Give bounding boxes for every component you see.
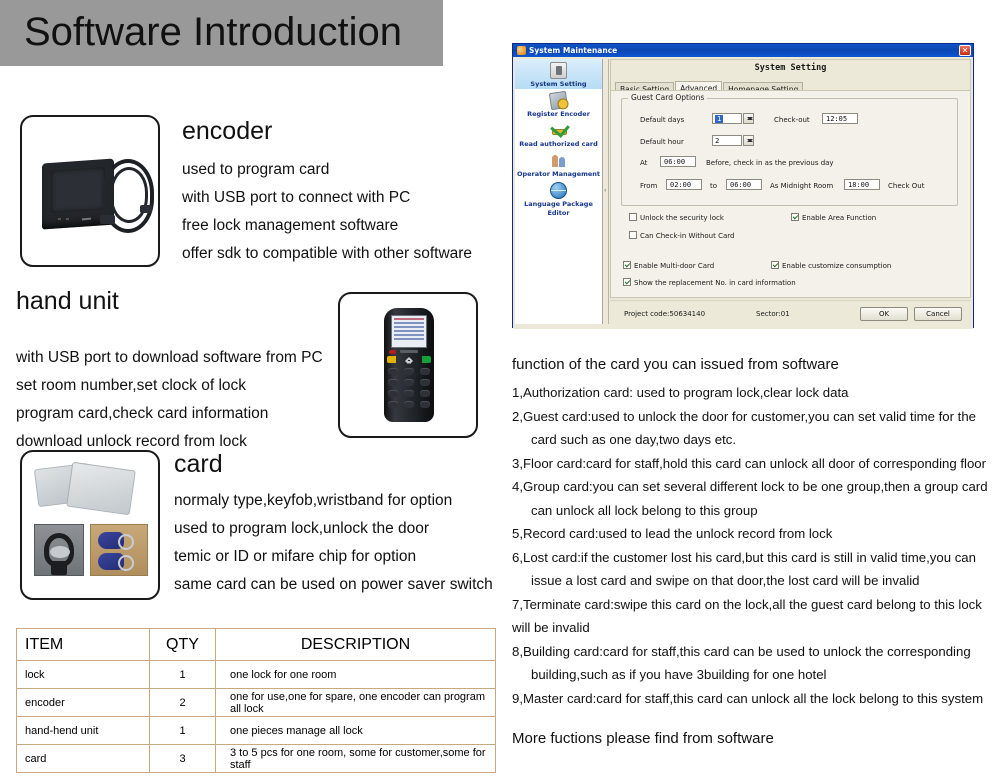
dialog-main-pane: System Setting Basic SettingAdvancedHome… (610, 59, 971, 327)
sidebar-item-register-encoder[interactable]: Register Encoder (515, 89, 602, 119)
cell-qty: 2 (150, 689, 216, 717)
cell-qty: 1 (150, 717, 216, 745)
hand-unit-heading: hand unit (16, 287, 119, 316)
hand-unit-feature-line: with USB port to download software from … (16, 344, 323, 372)
table-row: encoder 2 one for use,one for spare, one… (17, 689, 496, 717)
card-feature-line: normaly type,keyfob,wristband for option (174, 487, 493, 515)
card-photo (20, 450, 160, 600)
chevron-left-icon: ‹ (604, 187, 606, 194)
checkbox-label: Enable Area Function (802, 214, 876, 222)
cancel-button[interactable]: Cancel (914, 307, 962, 321)
sidebar-item-read-authorized-card[interactable]: Read authorized card (515, 119, 602, 149)
encoder-feature-line: used to program card (182, 156, 472, 184)
default-hour-input[interactable]: 2 (712, 135, 742, 146)
close-icon[interactable]: ✕ (959, 45, 971, 56)
pane-heading: System Setting (610, 59, 971, 76)
page-title-banner: Software Introduction (0, 0, 443, 66)
app-icon (517, 46, 526, 55)
default-days-label: Default days (640, 116, 684, 124)
cell-qty: 1 (150, 661, 216, 689)
page-title: Software Introduction (24, 8, 402, 56)
advanced-tab-panel: Guest Card Options Default days 1 Check-… (610, 90, 971, 298)
checkbox-box (629, 213, 637, 221)
sidebar-item-label: Read authorized card (515, 140, 602, 149)
checkout-time-input[interactable]: 12:05 (822, 113, 858, 124)
encoder-card-surface (51, 167, 105, 213)
checkbox-box (771, 261, 779, 269)
list-item: 7,Terminate card:swipe this card on the … (512, 593, 998, 617)
sidebar-item-label: Operator Management (515, 170, 602, 179)
checkbox-label: Unlock the security lock (640, 214, 724, 222)
right-content-column: System Maintenance ✕ System Setting Regi… (505, 0, 1000, 780)
check-out-label: Check Out (888, 182, 924, 190)
checkbox-show-replacement-no[interactable]: Show the replacement No. in card informa… (623, 278, 796, 287)
column-header-description: DESCRIPTION (216, 629, 496, 661)
checkbox-enable-multi-door-card[interactable]: Enable Multi-door Card (623, 261, 714, 270)
spin-down-icon (747, 117, 753, 123)
globe-icon (550, 182, 567, 199)
handheld-screen (391, 315, 427, 348)
usb-cable-loop-inner (110, 167, 148, 223)
list-item: 3,Floor card:card for staff,hold this ca… (512, 452, 998, 476)
handheld-brand-label (400, 350, 418, 353)
cell-item: encoder (17, 689, 150, 717)
card-feature-list: normaly type,keyfob,wristband for option… (174, 487, 493, 599)
table-row: lock 1 one lock for one room (17, 661, 496, 689)
default-hour-spin-buttons[interactable] (743, 135, 754, 146)
hand-unit-feature-line: program card,check card information (16, 400, 323, 428)
checkbox-label: Enable Multi-door Card (634, 262, 714, 270)
checkbox-unlock-security-lock[interactable]: Unlock the security lock (629, 213, 724, 222)
card-feature-line: used to program lock,unlock the door (174, 515, 493, 543)
keyfob-photo (90, 524, 148, 576)
list-item: card such as one day,two days etc. (512, 428, 998, 452)
handheld-dpad-icon (402, 355, 416, 367)
sidebar-item-system-setting[interactable]: System Setting (515, 59, 602, 89)
at-time-input[interactable]: 06:00 (660, 156, 696, 167)
checkout-label: Check-out (774, 116, 810, 124)
midnight-room-time-input[interactable]: 18:00 (844, 179, 880, 190)
sidebar-item-label: System Setting (515, 80, 602, 89)
ok-button[interactable]: OK (860, 307, 908, 321)
checkbox-box (791, 213, 799, 221)
cell-item: hand-hend unit (17, 717, 150, 745)
packing-spec-table: ITEM QTY DESCRIPTION lock 1 one lock for… (16, 628, 496, 773)
blank-card-icon (66, 462, 136, 515)
hand-unit-photo (338, 292, 478, 438)
at-note: Before, check in as the previous day (706, 159, 834, 167)
people-icon (550, 152, 567, 169)
dialog-sidebar-nav: System Setting Register Encoder Read aut… (515, 59, 603, 324)
handheld-yellow-key-icon (387, 356, 396, 363)
keyfob-icon (98, 532, 124, 549)
handheld-screen-text (392, 316, 426, 347)
cell-item: lock (17, 661, 150, 689)
checkbox-label: Show the replacement No. in card informa… (634, 279, 796, 287)
list-item: 2,Guest card:used to unlock the door for… (512, 405, 998, 429)
list-item: 6,Lost card:if the customer lost his car… (512, 546, 998, 570)
left-content-column: Software Introduction encoder used to pr… (0, 0, 505, 780)
from-label: From (640, 182, 657, 190)
default-hour-value: 2 (715, 137, 719, 145)
default-days-input[interactable]: 1 (712, 113, 742, 124)
encoder-led-icon (58, 218, 61, 220)
default-days-spin-buttons[interactable] (743, 113, 754, 124)
key-check-icon (550, 122, 567, 139)
default-days-value: 1 (715, 115, 723, 123)
wristband-clasp (51, 561, 67, 575)
system-maintenance-dialog: System Maintenance ✕ System Setting Regi… (512, 43, 974, 328)
card-feature-line: temic or ID or mifare chip for option (174, 543, 493, 571)
usb-plug-icon (100, 215, 115, 224)
list-item: 1,Authorization card: used to program lo… (512, 381, 998, 405)
list-item: will be invalid (512, 616, 998, 640)
encoder-feature-line: offer sdk to compatible with other softw… (182, 240, 472, 268)
to-label: to (710, 182, 717, 190)
handheld-green-key-icon (422, 356, 431, 363)
list-item: 4,Group card:you can set several differe… (512, 475, 998, 499)
functions-heading: function of the card you can issued from… (512, 356, 839, 373)
checkbox-enable-customize-consumption[interactable]: Enable customize consumption (771, 261, 891, 270)
encoder-led-icon (66, 218, 69, 220)
card-heading: card (174, 450, 223, 479)
list-item: building,such as if you have 3building f… (512, 663, 998, 687)
hand-unit-feature-list: with USB port to download software from … (16, 344, 323, 456)
cell-description: 3 to 5 pcs for one room, some for custom… (216, 745, 496, 773)
encoder-icon (549, 91, 568, 110)
sector-text: Sector:01 (756, 310, 790, 318)
wristband-photo (34, 524, 84, 576)
sidebar-item-label: Language Package Editor (515, 200, 602, 218)
to-time-input[interactable]: 06:00 (726, 179, 762, 190)
cell-description: one lock for one room (216, 661, 496, 689)
at-label: At (640, 159, 647, 167)
sidebar-item-operator-management[interactable]: Operator Management (515, 149, 602, 179)
card-feature-line: same card can be used on power saver swi… (174, 571, 493, 599)
list-item: issue a lost card and swipe on that door… (512, 569, 998, 593)
handheld-keypad (388, 368, 430, 418)
group-label: Guest Card Options (628, 93, 707, 102)
checkbox-enable-area-function[interactable]: Enable Area Function (791, 213, 876, 222)
list-item: 5,Record card:used to lead the unlock re… (512, 522, 998, 546)
usb-plug-icon (140, 205, 152, 213)
list-item: 8,Building card:card for staff,this card… (512, 640, 998, 664)
table-row: card 3 3 to 5 pcs for one room, some for… (17, 745, 496, 773)
dialog-window-title: System Maintenance (529, 44, 617, 57)
encoder-feature-line: with USB port to connect with PC (182, 184, 472, 212)
midnight-room-label: As Midnight Room (770, 182, 833, 190)
cell-description: one pieces manage all lock (216, 717, 496, 745)
list-item: 9,Master card:card for staff,this card c… (512, 687, 998, 711)
guest-card-options-group: Guest Card Options Default days 1 Check-… (621, 98, 958, 206)
table-header-row: ITEM QTY DESCRIPTION (17, 629, 496, 661)
dialog-body: System Setting Register Encoder Read aut… (513, 57, 973, 329)
checkbox-box (623, 278, 631, 286)
from-time-input[interactable]: 02:00 (666, 179, 702, 190)
checkbox-box (623, 261, 631, 269)
table-row: hand-hend unit 1 one pieces manage all l… (17, 717, 496, 745)
handheld-power-key-icon (389, 350, 396, 354)
sidebar-splitter-handle[interactable]: ‹ (603, 59, 609, 324)
column-header-item: ITEM (17, 629, 150, 661)
sidebar-item-language-package-editor[interactable]: Language Package Editor (515, 179, 602, 218)
more-functions-note: More fuctions please find from software (512, 730, 774, 747)
cell-description: one for use,one for spare, one encoder c… (216, 689, 496, 717)
encoder-feature-line: free lock management software (182, 212, 472, 240)
device-icon (550, 62, 567, 79)
dialog-title-bar[interactable]: System Maintenance ✕ (513, 44, 973, 57)
encoder-heading: encoder (182, 117, 272, 146)
default-hour-label: Default hour (640, 138, 684, 146)
list-item: can unlock all lock belong to this group (512, 499, 998, 523)
checkbox-label: Can Check-in Without Card (640, 232, 734, 240)
settings-tab-strip: Basic SettingAdvancedHomepage Setting (610, 76, 971, 90)
cell-qty: 3 (150, 745, 216, 773)
encoder-feature-list: used to program card with USB port to co… (182, 156, 472, 268)
column-header-qty: QTY (150, 629, 216, 661)
project-code-text: Project code:50634140 (624, 310, 705, 318)
checkbox-box (629, 231, 637, 239)
hand-unit-feature-line: set room number,set clock of lock (16, 372, 323, 400)
encoder-photo (20, 115, 160, 267)
dialog-footer: Project code:50634140 Sector:01 OK Cance… (610, 300, 971, 327)
spin-down-icon (747, 139, 753, 145)
checkbox-label: Enable customize consumption (782, 262, 891, 270)
card-functions-list: 1,Authorization card: used to program lo… (512, 381, 998, 710)
cell-item: card (17, 745, 150, 773)
keyfob-icon (98, 553, 124, 570)
checkbox-can-checkin-without-card[interactable]: Can Check-in Without Card (629, 231, 734, 240)
